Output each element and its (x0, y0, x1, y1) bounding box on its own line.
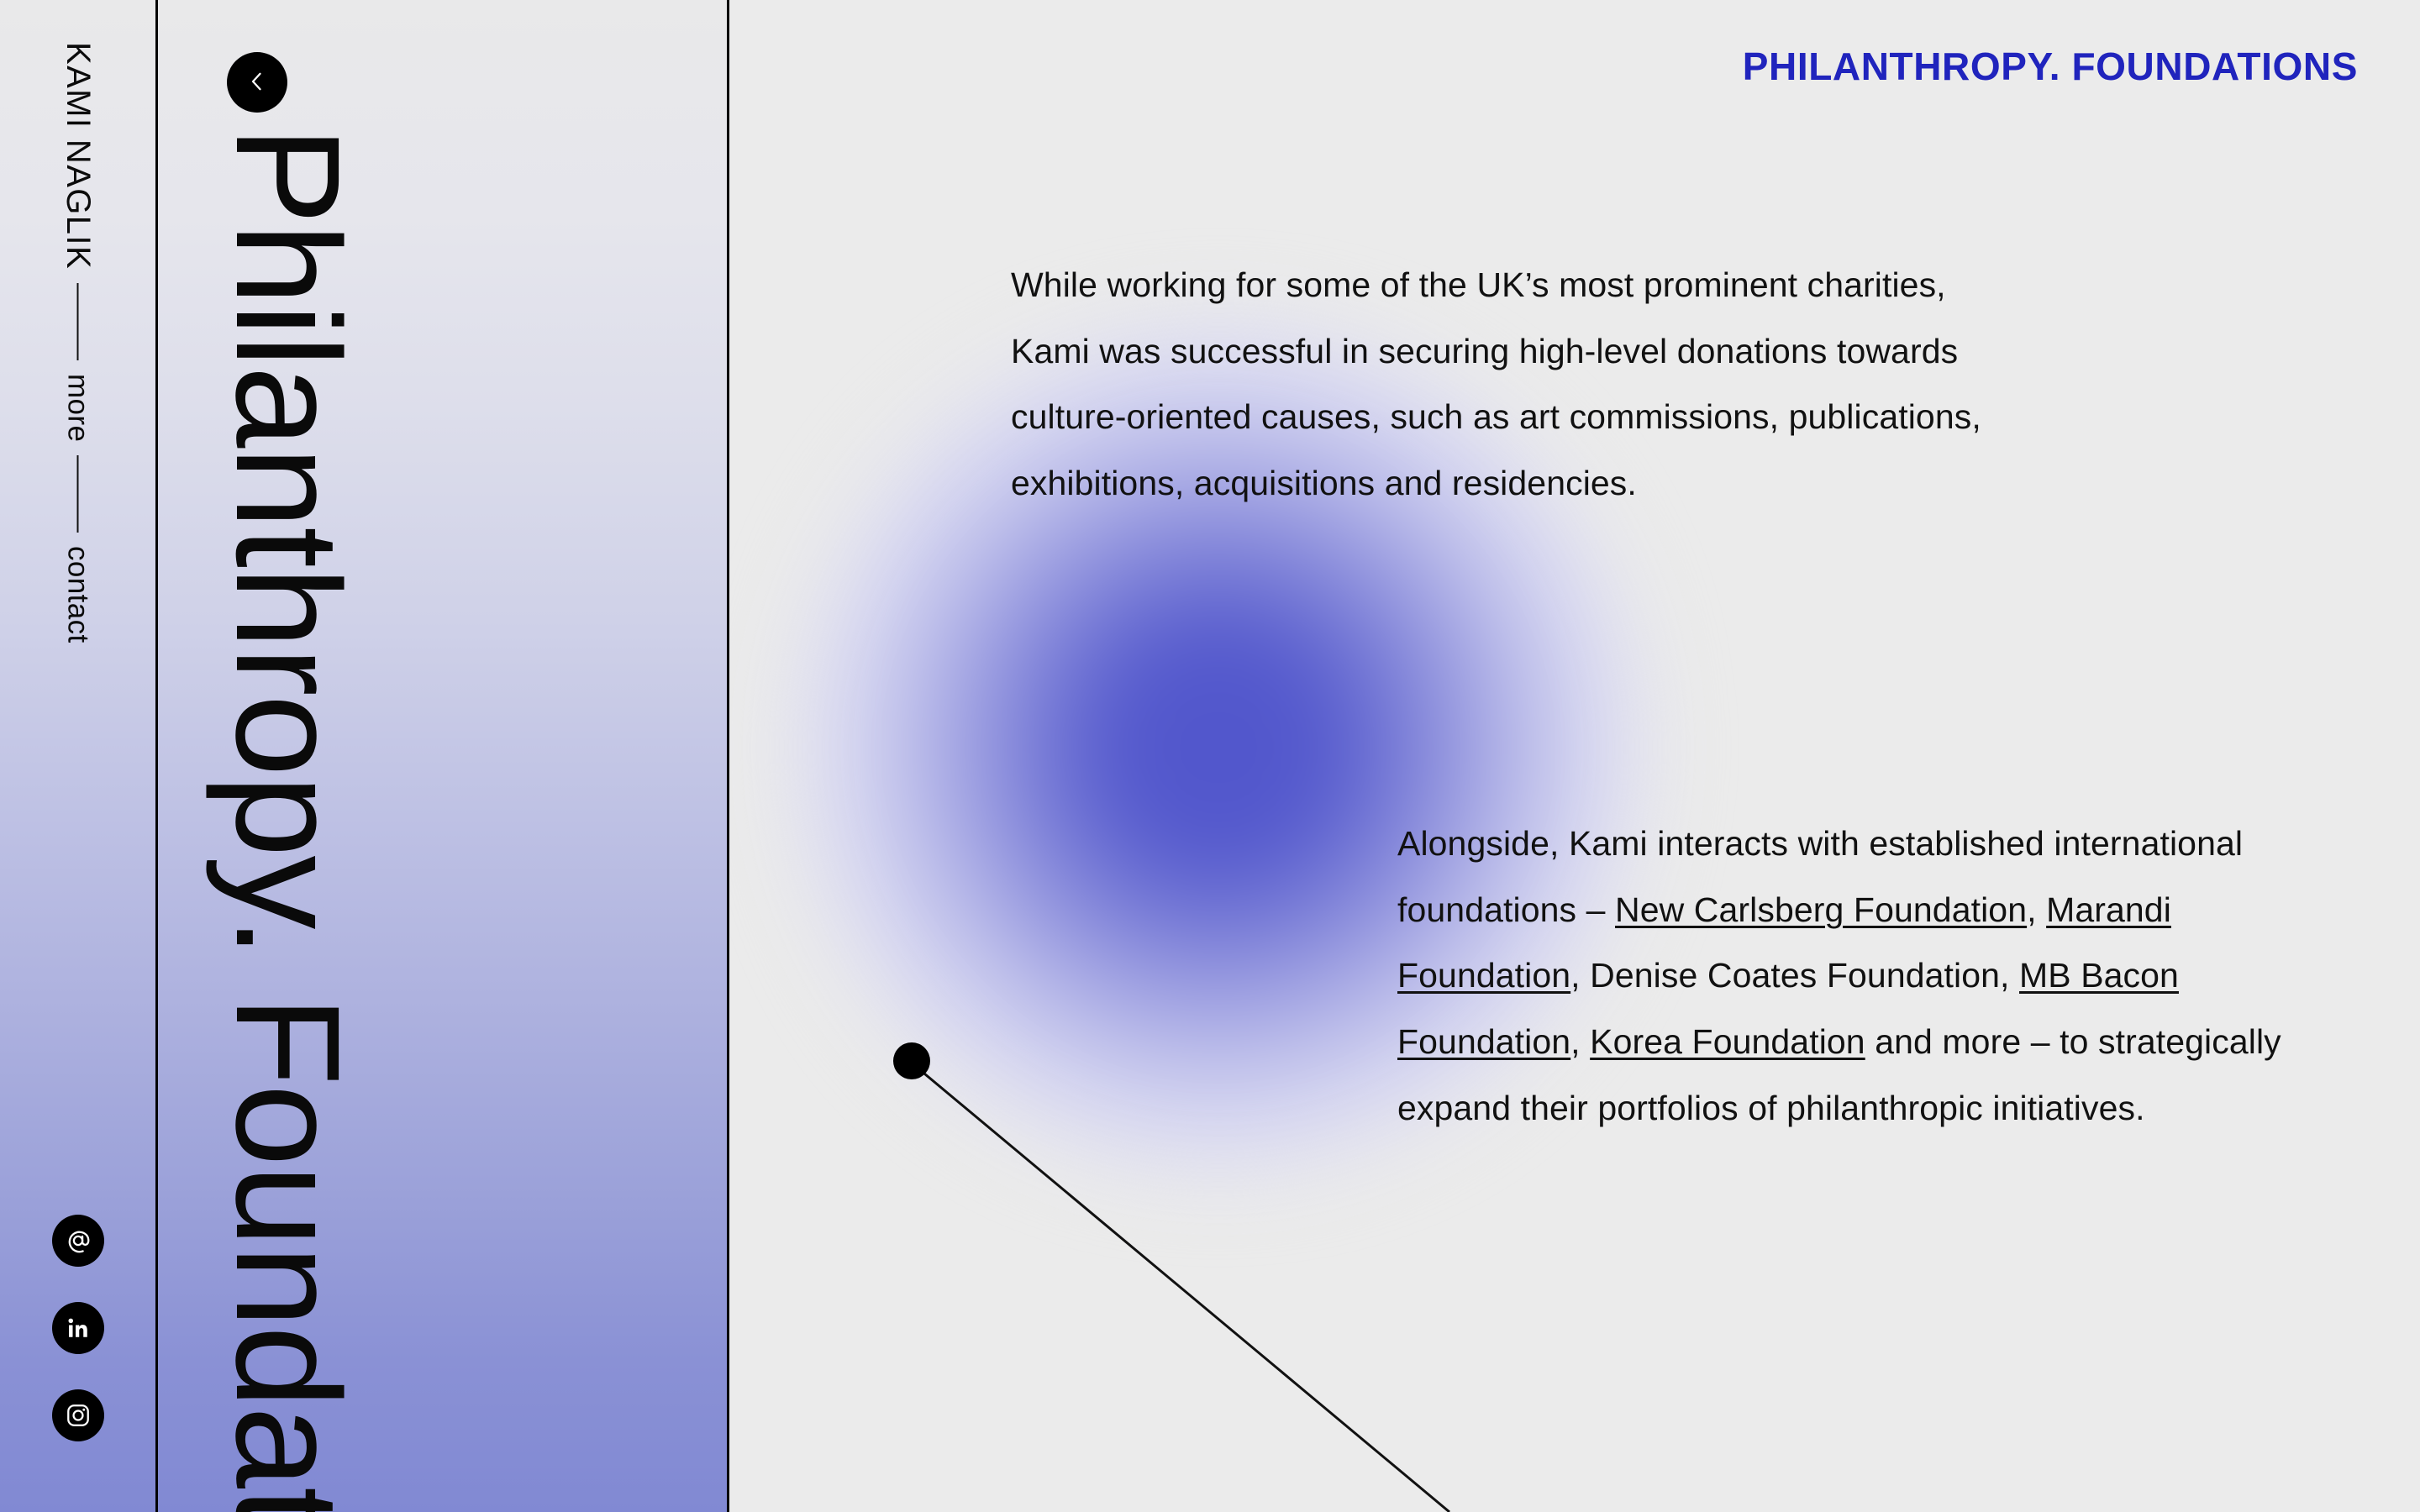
foundations-mid-text: , Denise Coates Foundation, (1570, 956, 2019, 995)
social-links (52, 1215, 104, 1441)
decorative-dot (893, 1042, 930, 1079)
page-root: KAMI NAGLIK more contact (0, 0, 2420, 1512)
vertical-divider-right (727, 0, 729, 1512)
email-icon[interactable] (52, 1215, 104, 1267)
brand-name: KAMI NAGLIK (59, 42, 97, 270)
vertical-divider-left (155, 0, 158, 1512)
sidebar-nav: KAMI NAGLIK more contact (0, 0, 155, 1512)
back-button[interactable] (227, 52, 287, 113)
linkedin-icon[interactable] (52, 1302, 104, 1354)
intro-paragraph: While working for some of the UK’s most … (1011, 252, 1994, 517)
separator-2: , (1570, 1022, 1590, 1061)
link-korea-foundation[interactable]: Korea Foundation (1590, 1022, 1865, 1061)
link-new-carlsberg-foundation[interactable]: New Carlsberg Foundation (1615, 890, 2027, 929)
foundations-paragraph: Alongside, Kami interacts with establish… (1397, 811, 2330, 1142)
sidebar-item-more[interactable]: more (61, 374, 95, 442)
instagram-icon[interactable] (52, 1389, 104, 1441)
sidebar-rule-1 (77, 283, 79, 360)
decorative-diagonal-line (914, 1065, 1449, 1512)
breadcrumb: PHILANTHROPY. FOUNDATIONS (1743, 44, 2358, 89)
sidebar-item-contact[interactable]: contact (61, 546, 95, 643)
separator-1: , (2027, 890, 2046, 929)
sidebar-rule-2 (77, 455, 79, 533)
title-gradient-strip (158, 0, 727, 1512)
chevron-left-icon (243, 67, 271, 98)
sidebar-stack: KAMI NAGLIK more contact (59, 25, 97, 643)
